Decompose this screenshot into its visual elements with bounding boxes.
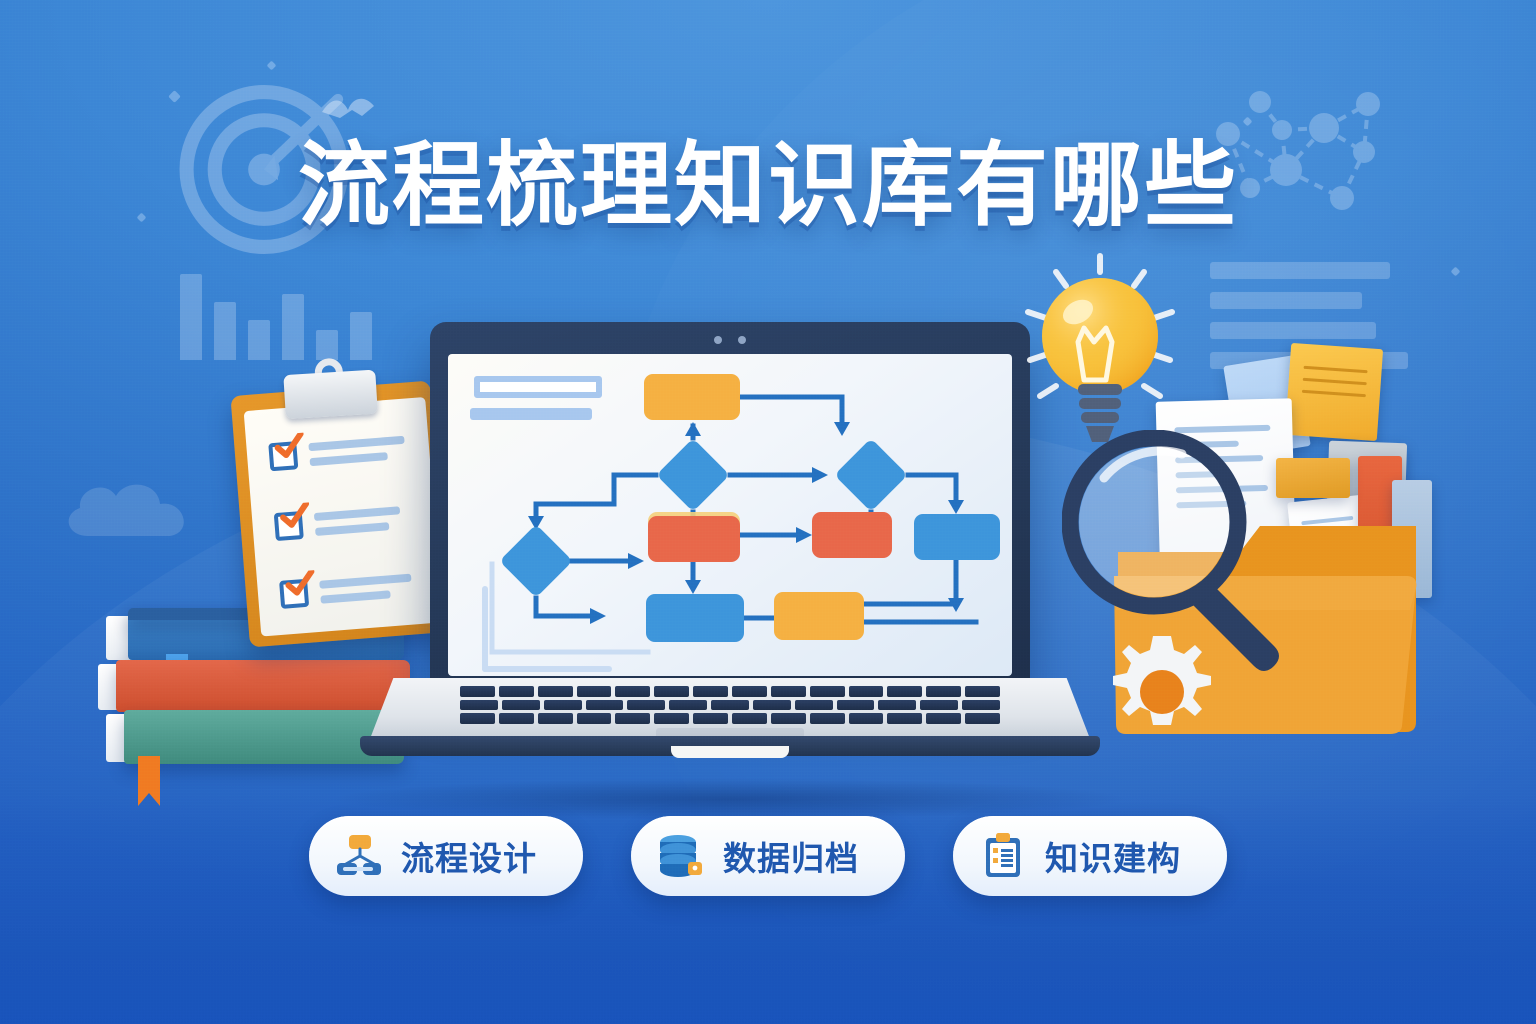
- poster-canvas: 流程梳理知识库有哪些: [0, 0, 1536, 1024]
- texture-overlay: [0, 0, 1536, 1024]
